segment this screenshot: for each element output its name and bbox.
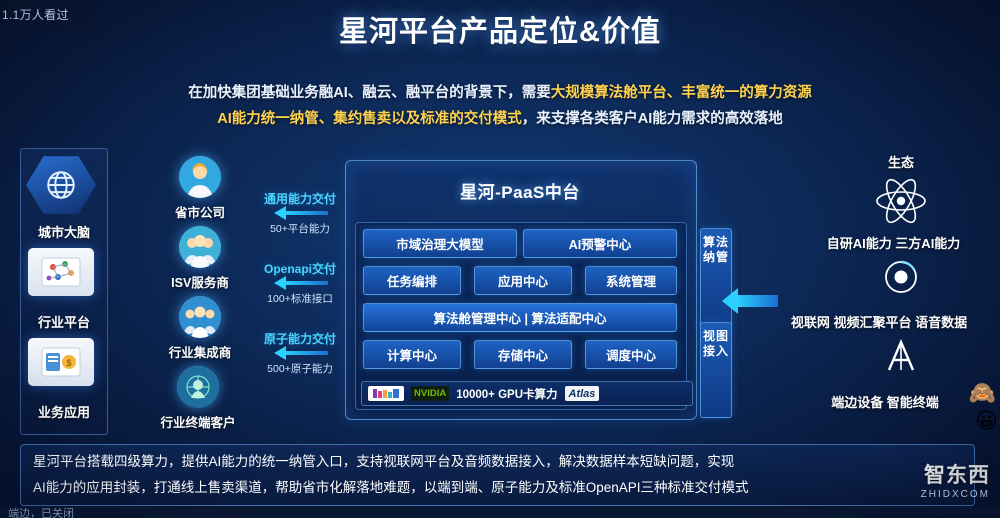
summary-line-2: AI能力的应用封装，打通线上售卖渠道，帮助省市化解落地难题，以端到端、原子能力及… <box>33 475 962 501</box>
delivery-arrow-0: 通用能力交付 50+平台能力 <box>240 190 360 236</box>
slide-canvas: 1.1万人看过 星河平台产品定位&价值 在加快集团基础业务融AI、融云、融平台的… <box>0 0 1000 518</box>
book-money-icon: $ <box>28 338 94 386</box>
watermark-brand: 智东西 <box>921 459 990 489</box>
monkey-emoji-icon: 🙈 <box>969 380 996 406</box>
delivery-arrow-1-sub: 100+标准接口 <box>240 291 360 306</box>
subtitle-line-1: 在加快集团基础业务融AI、融云、融平台的背景下，需要大规模算法舱平台、丰富统一的… <box>0 80 1000 106</box>
bottom-strip <box>0 506 1000 518</box>
globe-icon <box>26 155 96 215</box>
customer-2-label: 行业集成商 <box>150 342 250 361</box>
edge-device-labels: 端边设备 智能终端 <box>780 392 990 411</box>
left-item-0-label: 城市大脑 <box>14 222 114 241</box>
summary-line-1: 星河平台搭载四级算力，提供AI能力的统一纳管入口，支持视联网平台及音频数据接入，… <box>33 449 962 475</box>
page-title: 星河平台产品定位&价值 <box>0 8 1000 50</box>
gpu-capacity-label: 10000+ GPU卡算力 <box>456 386 557 402</box>
customer-1-label: ISV服务商 <box>150 272 250 291</box>
delivery-arrow-0-label: 通用能力交付 <box>240 190 360 207</box>
team-user-avatar <box>179 296 221 338</box>
subtitle-line-1-text: 在加快集团基础业务融AI、融云、融平台的背景下，需要 <box>188 85 551 101</box>
hardware-vendor-bar: NVIDIA 10000+ GPU卡算力 Atlas <box>361 381 693 406</box>
summary-footer: 星河平台搭载四级算力，提供AI能力的统一纳管入口，支持视联网平台及音频数据接入，… <box>20 444 975 506</box>
network-card-icon <box>28 248 94 296</box>
watermark: 智东西 ZHIDXCOM <box>921 459 990 500</box>
customer-0-label: 省市公司 <box>150 202 250 221</box>
module-ai-warning-center[interactable]: AI预警中心 <box>523 229 677 258</box>
subtitle-line-2-highlight: AI能力统一纳管、集约售卖以及标准的交付模式 <box>217 111 522 127</box>
customer-3-label: 行业终端客户 <box>148 412 248 431</box>
delivery-arrow-2-label: 原子能力交付 <box>240 330 360 347</box>
customer-2: 行业集成商 <box>150 296 250 361</box>
miit-logo-icon <box>368 386 404 401</box>
module-algorithm-cabin-management[interactable]: 算法舱管理中心 | 算法适配中心 <box>363 303 677 332</box>
nvidia-logo-icon: NVIDIA <box>411 386 449 401</box>
module-storage-center[interactable]: 存储中心 <box>474 340 572 369</box>
left-item-1-label: 行业平台 <box>14 312 114 331</box>
subtitle-line-2-text: ，来支撑各类客户AI能力需求的高效落地 <box>522 111 783 127</box>
arrow-left-icon <box>274 278 328 288</box>
svg-text:$: $ <box>66 358 71 368</box>
customer-0: 省市公司 <box>150 156 250 221</box>
module-market-governance-model[interactable]: 市域治理大模型 <box>363 229 517 258</box>
left-item-2-label: 业务应用 <box>14 402 114 421</box>
bottom-status-text: 端边，已关闭 <box>8 505 74 518</box>
subtitle-line-1-highlight: 大规模算法舱平台、丰富统一的算力资源 <box>551 85 812 101</box>
delivery-arrow-2-sub: 500+原子能力 <box>240 361 360 376</box>
video-network-labels: 视联网 视频汇聚平台 语音数据 <box>760 312 998 331</box>
subtitle-block: 在加快集团基础业务融AI、融云、融平台的背景下，需要大规模算法舱平台、丰富统一的… <box>0 80 1000 132</box>
delivery-arrow-1: Openapi交付 100+标准接口 <box>240 260 360 306</box>
customer-3: 行业终端客户 <box>148 366 248 431</box>
network-user-avatar <box>177 366 219 408</box>
module-application-center[interactable]: 应用中心 <box>474 266 572 295</box>
arrow-left-large-icon <box>722 288 778 314</box>
delivery-arrow-2: 原子能力交付 500+原子能力 <box>240 330 360 376</box>
side-tab-view-access[interactable]: 视图接入 <box>700 322 732 418</box>
module-task-orchestration[interactable]: 任务编排 <box>363 266 461 295</box>
female-user-avatar <box>179 156 221 198</box>
side-tab-algorithm-management[interactable]: 算法纳管 <box>700 228 732 330</box>
arrow-left-icon <box>274 208 328 218</box>
left-item-0-icon-wrap <box>26 155 100 217</box>
atom-icon <box>872 172 930 230</box>
camera-icon <box>879 255 923 299</box>
module-compute-center[interactable]: 计算中心 <box>363 340 461 369</box>
antenna-icon <box>880 336 922 376</box>
module-system-management[interactable]: 系统管理 <box>585 266 677 295</box>
center-platform-title: 星河-PaaS中台 <box>345 178 695 203</box>
delivery-arrow-0-sub: 50+平台能力 <box>240 221 360 236</box>
delivery-arrow-1-label: Openapi交付 <box>240 260 360 277</box>
ecosystem-labels: 自研AI能力 三方AI能力 <box>786 233 1000 252</box>
module-scheduling-center[interactable]: 调度中心 <box>585 340 677 369</box>
atlas-logo-icon: Atlas <box>565 386 600 401</box>
subtitle-line-2: AI能力统一纳管、集约售卖以及标准的交付模式，来支撑各类客户AI能力需求的高效落… <box>0 106 1000 132</box>
watermark-domain: ZHIDXCOM <box>921 489 990 500</box>
smiley-emoji-icon: 😀 <box>975 408 998 434</box>
arrow-left-icon <box>274 348 328 358</box>
ecosystem-title: 生态 <box>826 152 976 171</box>
customer-1: ISV服务商 <box>150 226 250 291</box>
group-user-avatar <box>179 226 221 268</box>
